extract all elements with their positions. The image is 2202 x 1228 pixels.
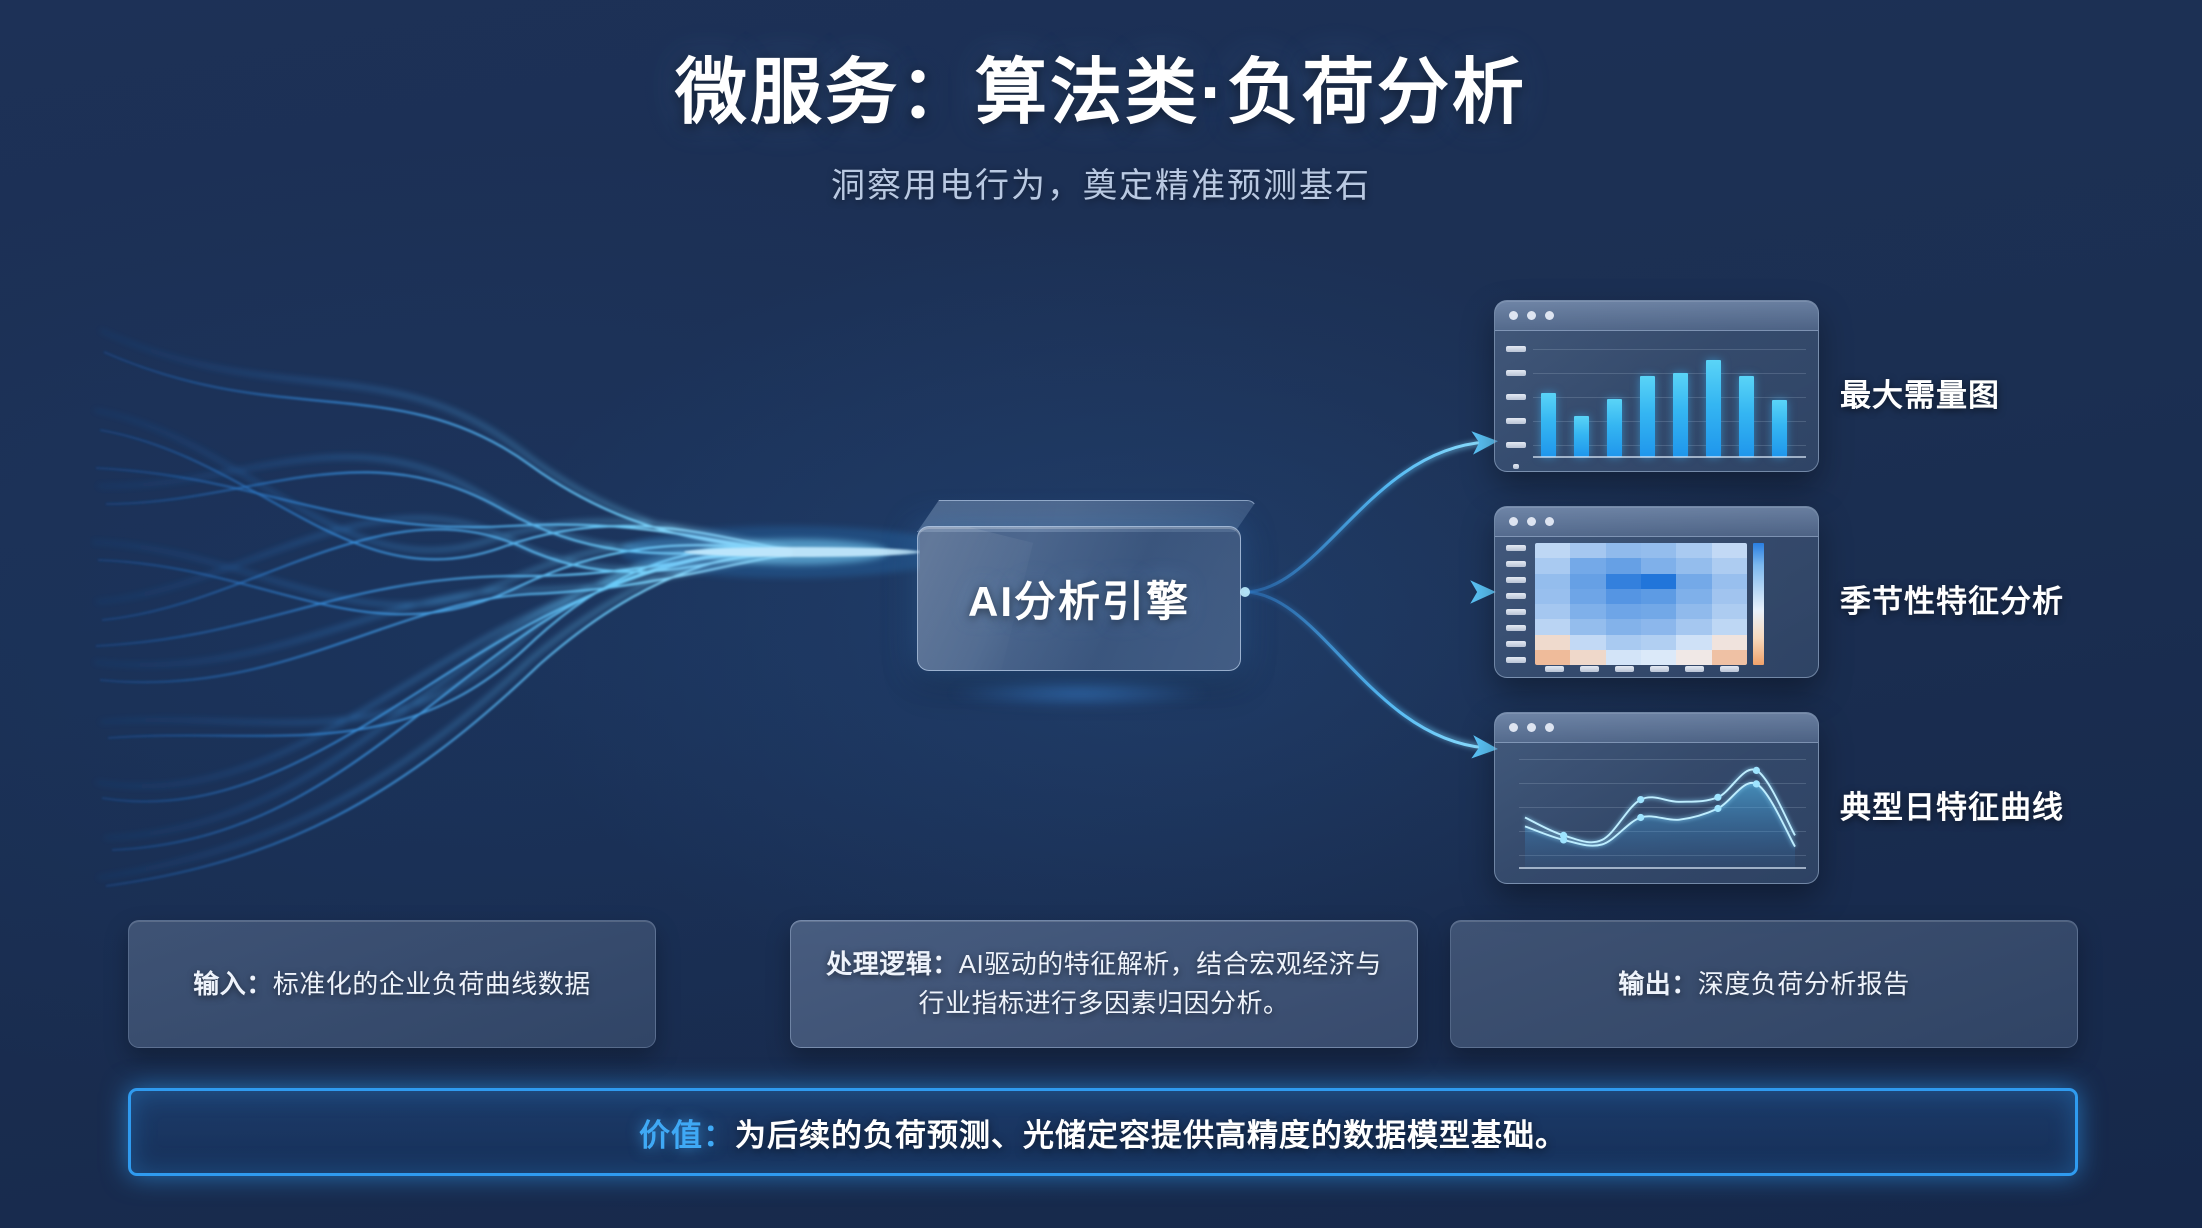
- heatmap-cell: [1535, 619, 1571, 635]
- window-dot-red-icon: [1509, 517, 1518, 526]
- ai-engine-node[interactable]: AI分析引擎: [917, 500, 1257, 692]
- heatmap-cell: [1712, 589, 1747, 605]
- output-card-typical-day[interactable]: [1494, 712, 1819, 884]
- heatmap-cell: [1606, 558, 1642, 574]
- heatmap-cell: [1641, 543, 1677, 559]
- heatmap-cell: [1535, 589, 1571, 605]
- heatmap-cell: [1570, 574, 1606, 590]
- heatmap-cell: [1606, 543, 1642, 559]
- arrow-lines: [1244, 442, 1486, 748]
- heatmap-cell: [1535, 650, 1571, 665]
- heatmap-cell: [1712, 558, 1747, 574]
- window-dot-green-icon: [1545, 517, 1554, 526]
- output-label-2: 季节性特征分析: [1840, 576, 2064, 621]
- heatmap-cell: [1570, 650, 1606, 665]
- heatmap-cell: [1676, 619, 1712, 635]
- data-flow-curves-graphic: [90, 290, 920, 890]
- engine-face: AI分析引擎: [917, 526, 1241, 671]
- heatmap-cell: [1676, 650, 1712, 665]
- output-label-3: 典型日特征曲线: [1840, 782, 2064, 827]
- line-marker: [1560, 832, 1567, 839]
- card-titlebar: [1495, 507, 1818, 537]
- heatmap-cell: [1535, 558, 1571, 574]
- heatmap-cell: [1641, 619, 1677, 635]
- heatmap-cell: [1712, 574, 1747, 590]
- engine-glow: [947, 680, 1211, 706]
- heatmap-cell: [1712, 604, 1747, 620]
- line-marker: [1714, 794, 1721, 801]
- heatmap-cell: [1641, 558, 1677, 574]
- window-dot-yellow-icon: [1527, 517, 1536, 526]
- heatmap-cell: [1570, 619, 1606, 635]
- value-banner: 价值：为后续的负荷预测、光储定容提供高精度的数据模型基础。: [128, 1088, 2078, 1176]
- page-title: 微服务：算法类·负荷分析: [0, 50, 2202, 138]
- output-label-1: 最大需量图: [1840, 370, 2000, 415]
- info-card-input: 输入：标准化的企业负荷曲线数据: [128, 920, 656, 1048]
- info-output-key: 输出：: [1618, 969, 1698, 999]
- heatmap-cell: [1570, 558, 1606, 574]
- heatmap-cell: [1676, 574, 1712, 590]
- heatmap-cell: [1641, 604, 1677, 620]
- value-text: 为后续的负荷预测、光储定容提供高精度的数据模型基础。: [735, 1118, 1567, 1153]
- heatmap-cell: [1606, 574, 1642, 590]
- line-marker: [1753, 767, 1760, 774]
- line-chart-icon: [1495, 743, 1818, 883]
- heatmap-icon: [1495, 537, 1818, 677]
- heatmap-cell: [1535, 604, 1571, 620]
- heatmap-cell: [1570, 635, 1606, 651]
- heatmap-cell: [1606, 650, 1642, 665]
- heatmap-cell: [1676, 543, 1712, 559]
- window-dot-green-icon: [1545, 723, 1554, 732]
- heatmap-cell: [1676, 635, 1712, 651]
- heatmap-cell: [1570, 589, 1606, 605]
- heatmap-cell: [1535, 543, 1571, 559]
- output-card-seasonal[interactable]: [1494, 506, 1819, 678]
- heatmap-cell: [1535, 574, 1571, 590]
- output-card-max-demand[interactable]: [1494, 300, 1819, 472]
- line-area: [1525, 783, 1795, 869]
- heatmap-cell: [1641, 574, 1677, 590]
- heatmap-cell: [1641, 635, 1677, 651]
- slide-canvas: 微服务：算法类·负荷分析 洞察用电行为，奠定精准预测基石: [0, 0, 2202, 1228]
- info-output-text: 深度负荷分析报告: [1698, 969, 1910, 999]
- window-dot-red-icon: [1509, 723, 1518, 732]
- heatmap-cell: [1570, 543, 1606, 559]
- heatmap-cell: [1712, 635, 1747, 651]
- engine-label: AI分析引擎: [968, 568, 1190, 629]
- window-dot-green-icon: [1545, 311, 1554, 320]
- line-marker: [1637, 796, 1644, 803]
- line-marker: [1753, 780, 1760, 787]
- info-process-key: 处理逻辑：: [826, 949, 959, 979]
- heatmap-cell: [1606, 604, 1642, 620]
- heatmap-cell: [1641, 650, 1677, 665]
- heatmap-cell: [1606, 635, 1642, 651]
- card-titlebar: [1495, 713, 1818, 743]
- card-titlebar: [1495, 301, 1818, 331]
- info-process-text: AI驱动的特征解析，结合宏观经济与行业指标进行多因素归因分析。: [918, 949, 1381, 1018]
- info-input-key: 输入：: [193, 969, 273, 999]
- heatmap-cell: [1606, 619, 1642, 635]
- page-subtitle: 洞察用电行为，奠定精准预测基石: [0, 158, 2202, 207]
- info-card-output: 输出：深度负荷分析报告: [1450, 920, 2078, 1048]
- window-dot-yellow-icon: [1527, 311, 1536, 320]
- arrow-to-card-1: [1244, 442, 1486, 592]
- heatmap-cell: [1712, 543, 1747, 559]
- heatmap-cell: [1535, 635, 1571, 651]
- window-dot-red-icon: [1509, 311, 1518, 320]
- line-marker: [1714, 805, 1721, 812]
- heatmap-cell: [1676, 604, 1712, 620]
- arrow-to-card-3: [1244, 592, 1486, 748]
- heatmap-cell: [1641, 589, 1677, 605]
- bar-chart-icon: [1495, 331, 1818, 471]
- info-card-process: 处理逻辑：AI驱动的特征解析，结合宏观经济与行业指标进行多因素归因分析。: [790, 920, 1418, 1048]
- window-dot-yellow-icon: [1527, 723, 1536, 732]
- info-input-text: 标准化的企业负荷曲线数据: [273, 969, 591, 999]
- heatmap-cell: [1676, 589, 1712, 605]
- value-key: 价值：: [639, 1118, 735, 1153]
- heatmap-cell: [1712, 650, 1747, 665]
- header: 微服务：算法类·负荷分析 洞察用电行为，奠定精准预测基石: [0, 50, 2202, 207]
- heatmap-cell: [1606, 589, 1642, 605]
- heatmap-cell: [1676, 558, 1712, 574]
- heatmap-cell: [1570, 604, 1606, 620]
- heatmap-cell: [1712, 619, 1747, 635]
- line-marker: [1637, 814, 1644, 821]
